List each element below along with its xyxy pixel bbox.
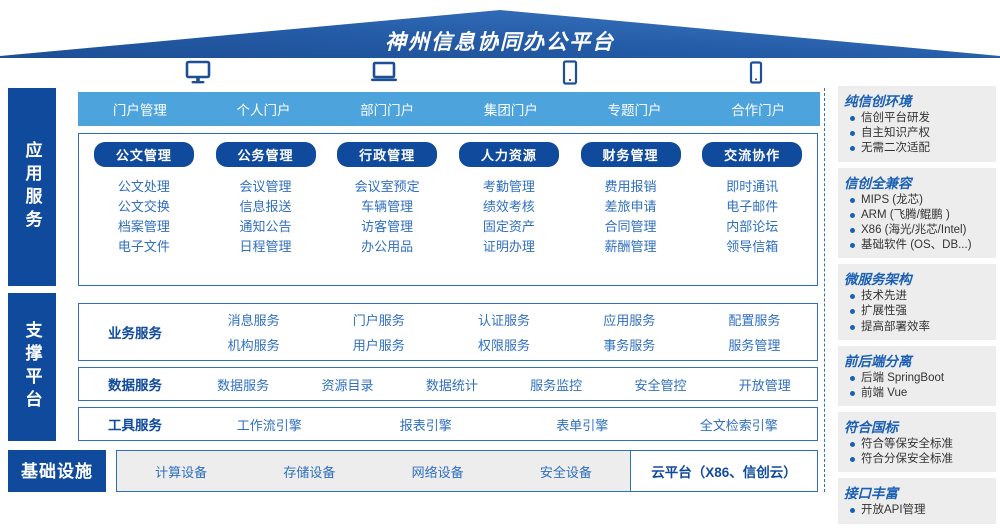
sidebar-item-label: 提高部署效率 — [861, 320, 930, 335]
app-item[interactable]: 会议室预定 — [355, 180, 420, 193]
sidebar-group-title: 纯信创环境 — [844, 90, 990, 110]
support-item[interactable]: 安全管控 — [608, 372, 712, 397]
layer-label-application-text: 应用服务 — [24, 141, 41, 233]
bullet-icon — [850, 309, 855, 314]
sidebar-item-label: 基础软件 (OS、DB...) — [861, 238, 972, 253]
sidebar-item-label: ARM (飞腾/鲲鹏 ) — [861, 208, 950, 223]
sidebar-group-full-compatibility: 信创全兼容 MIPS (龙芯) ARM (飞腾/鲲鹏 ) X86 (海光/兆芯/… — [838, 168, 996, 259]
layer-label-support-text: 支撑平台 — [24, 321, 41, 413]
desktop-monitor-icon — [178, 60, 218, 88]
portal-item[interactable]: 集团门户 — [449, 99, 573, 119]
support-item[interactable]: 消息服务 — [191, 307, 316, 332]
app-item[interactable]: 访客管理 — [361, 220, 413, 233]
sidebar-group-title: 微服务架构 — [844, 268, 990, 288]
support-item[interactable]: 表单引擎 — [504, 412, 661, 437]
sidebar-item-label: X86 (海光/兆芯/Intel) — [861, 223, 966, 238]
layer-label-support: 支撑平台 — [8, 293, 56, 441]
bullet-icon — [850, 294, 855, 299]
support-item[interactable]: 数据服务 — [191, 372, 295, 397]
app-item[interactable]: 证明办理 — [483, 240, 535, 253]
app-item[interactable]: 信息报送 — [240, 200, 292, 213]
sidebar-list-item: 符合等保安全标准 — [844, 437, 990, 452]
app-column: 财务管理 费用报销 差旅申请 合同管理 薪酬管理 — [570, 142, 692, 281]
app-item[interactable]: 考勤管理 — [483, 180, 535, 193]
support-item[interactable]: 权限服务 — [441, 332, 566, 357]
app-item[interactable]: 内部论坛 — [726, 220, 778, 233]
support-item[interactable]: 服务监控 — [504, 372, 608, 397]
vertical-dashed-divider — [824, 88, 825, 492]
support-item[interactable]: 服务管理 — [692, 332, 817, 357]
bullet-icon — [850, 131, 855, 136]
bullet-icon — [850, 442, 855, 447]
support-item[interactable]: 事务服务 — [567, 332, 692, 357]
app-column-title[interactable]: 公文管理 — [94, 142, 194, 167]
app-column: 公文管理 公文处理 公文交换 档案管理 电子文件 — [83, 142, 205, 281]
sidebar-list-item: 扩展性强 — [844, 304, 990, 319]
infrastructure-item[interactable]: 计算设备 — [117, 462, 245, 481]
app-item[interactable]: 日程管理 — [240, 240, 292, 253]
application-services-panel: 公文管理 公文处理 公文交换 档案管理 电子文件 公务管理 会议管理 信息报送 … — [78, 133, 818, 286]
support-section-title: 业务服务 — [79, 322, 191, 342]
portal-bar: 门户管理 个人门户 部门门户 集团门户 专题门户 合作门户 — [78, 92, 820, 126]
app-column: 公务管理 会议管理 信息报送 通知公告 日程管理 — [205, 142, 327, 281]
app-column: 行政管理 会议室预定 车辆管理 访客管理 办公用品 — [326, 142, 448, 281]
support-item[interactable]: 数据统计 — [400, 372, 504, 397]
sidebar-list-item: 提高部署效率 — [844, 320, 990, 335]
sidebar-group-title: 接口丰富 — [844, 482, 990, 502]
app-item[interactable]: 电子邮件 — [726, 200, 778, 213]
smartphone-icon — [736, 60, 776, 88]
sidebar-item-label: 符合分保安全标准 — [861, 452, 953, 467]
bullet-icon — [850, 198, 855, 203]
portal-item[interactable]: 合作门户 — [696, 99, 820, 119]
support-item[interactable]: 工作流引擎 — [191, 412, 348, 437]
support-item[interactable]: 门户服务 — [316, 307, 441, 332]
support-item[interactable]: 资源目录 — [295, 372, 399, 397]
sidebar-item-label: 扩展性强 — [861, 304, 907, 319]
bullet-icon — [850, 146, 855, 151]
app-column: 人力资源 考勤管理 绩效考核 固定资产 证明办理 — [448, 142, 570, 281]
sidebar-item-label: 自主知识产权 — [861, 126, 930, 141]
infrastructure-panel: 计算设备 存储设备 网络设备 安全设备 云平台（X86、信创云） — [116, 450, 818, 492]
sidebar-list-item: 符合分保安全标准 — [844, 452, 990, 467]
app-item[interactable]: 费用报销 — [605, 180, 657, 193]
laptop-icon — [364, 60, 404, 88]
sidebar-list-item: 自主知识产权 — [844, 126, 990, 141]
app-column-title[interactable]: 财务管理 — [581, 142, 681, 167]
app-item[interactable]: 车辆管理 — [361, 200, 413, 213]
portal-item[interactable]: 门户管理 — [78, 99, 202, 119]
support-item[interactable]: 机构服务 — [191, 332, 316, 357]
sidebar-list-item: X86 (海光/兆芯/Intel) — [844, 223, 990, 238]
sidebar-group-national-standard: 符合国标 符合等保安全标准 符合分保安全标准 — [838, 412, 996, 472]
support-business-services: 业务服务 消息服务 门户服务 认证服务 应用服务 配置服务 机构服务 用户服务 … — [78, 303, 818, 361]
infrastructure-item[interactable]: 网络设备 — [374, 462, 502, 481]
app-item[interactable]: 固定资产 — [483, 220, 535, 233]
bullet-icon — [850, 213, 855, 218]
support-item[interactable]: 认证服务 — [441, 307, 566, 332]
support-section-title: 工具服务 — [79, 414, 191, 434]
bullet-icon — [850, 508, 855, 513]
app-item[interactable]: 即时通讯 — [726, 180, 778, 193]
bullet-icon — [850, 116, 855, 121]
app-item[interactable]: 通知公告 — [240, 220, 292, 233]
support-item[interactable]: 应用服务 — [567, 307, 692, 332]
app-column-title[interactable]: 行政管理 — [337, 142, 437, 167]
sidebar-item-label: 技术先进 — [861, 289, 907, 304]
sidebar-group-title: 符合国标 — [844, 416, 990, 436]
sidebar-item-label: 前端 Vue — [861, 386, 907, 401]
sidebar-group-microservice: 微服务架构 技术先进 扩展性强 提高部署效率 — [838, 264, 996, 340]
support-item[interactable]: 开放管理 — [713, 372, 817, 397]
sidebar-group-pure-xinchuang: 纯信创环境 信创平台研发 自主知识产权 无需二次适配 — [838, 86, 996, 162]
app-column-title[interactable]: 人力资源 — [459, 142, 559, 167]
portal-item[interactable]: 专题门户 — [573, 99, 697, 119]
infrastructure-cloud-platform[interactable]: 云平台（X86、信创云） — [630, 451, 817, 491]
support-item[interactable]: 全文检索引擎 — [661, 412, 818, 437]
sidebar-list-item: ARM (飞腾/鲲鹏 ) — [844, 208, 990, 223]
app-item[interactable]: 合同管理 — [605, 220, 657, 233]
sidebar-list-item: 基础软件 (OS、DB...) — [844, 238, 990, 253]
support-item[interactable]: 配置服务 — [692, 307, 817, 332]
app-column-title[interactable]: 交流协作 — [702, 142, 802, 167]
sidebar-list-item: 信创平台研发 — [844, 111, 990, 126]
portal-item[interactable]: 个人门户 — [202, 99, 326, 119]
bullet-icon — [850, 325, 855, 330]
tablet-icon — [550, 60, 590, 88]
bullet-icon — [850, 228, 855, 233]
app-item[interactable]: 薪酬管理 — [605, 240, 657, 253]
sidebar-item-label: 开放API管理 — [861, 503, 926, 518]
sidebar-group-title: 前后端分离 — [844, 350, 990, 370]
app-item[interactable]: 电子文件 — [118, 240, 170, 253]
portal-item[interactable]: 部门门户 — [325, 99, 449, 119]
app-item[interactable]: 公文交换 — [118, 200, 170, 213]
infrastructure-item[interactable]: 存储设备 — [245, 462, 373, 481]
bullet-icon — [850, 376, 855, 381]
support-item[interactable]: 用户服务 — [316, 332, 441, 357]
app-item[interactable]: 会议管理 — [240, 180, 292, 193]
layer-label-application: 应用服务 — [8, 88, 56, 286]
sidebar-group-frontend-backend-split: 前后端分离 后端 SpringBoot 前端 Vue — [838, 346, 996, 406]
app-column-title[interactable]: 公务管理 — [216, 142, 316, 167]
sidebar-list-item: 无需二次适配 — [844, 141, 990, 156]
app-item[interactable]: 绩效考核 — [483, 200, 535, 213]
support-tool-services: 工具服务 工作流引擎 报表引擎 表单引擎 全文检索引擎 — [78, 407, 818, 441]
bullet-icon — [850, 457, 855, 462]
sidebar-list-item: 后端 SpringBoot — [844, 371, 990, 386]
support-data-services: 数据服务 数据服务 资源目录 数据统计 服务监控 安全管控 开放管理 — [78, 367, 818, 401]
sidebar-list-item: 前端 Vue — [844, 386, 990, 401]
app-column: 交流协作 即时通讯 电子邮件 内部论坛 领导信箱 — [691, 142, 813, 281]
infrastructure-item[interactable]: 安全设备 — [502, 462, 630, 481]
app-item[interactable]: 办公用品 — [361, 240, 413, 253]
support-section-title: 数据服务 — [79, 374, 191, 394]
sidebar-item-label: 符合等保安全标准 — [861, 437, 953, 452]
layer-label-infrastructure-text: 基础设施 — [21, 463, 93, 480]
sidebar-list-item: MIPS (龙芯) — [844, 193, 990, 208]
sidebar-item-label: 信创平台研发 — [861, 111, 930, 126]
sidebar-item-label: 无需二次适配 — [861, 141, 930, 156]
layer-label-infrastructure: 基础设施 — [8, 450, 106, 492]
sidebar-list-item: 技术先进 — [844, 289, 990, 304]
app-item[interactable]: 公文处理 — [118, 180, 170, 193]
diagram-root: 神州信息协同办公平台 — [0, 0, 1000, 500]
sidebar-item-label: MIPS (龙芯) — [861, 193, 923, 208]
device-icons-row — [78, 60, 820, 90]
feature-sidebar: 纯信创环境 信创平台研发 自主知识产权 无需二次适配 信创全兼容 MIPS (龙… — [838, 86, 996, 530]
sidebar-list-item: 开放API管理 — [844, 503, 990, 518]
bullet-icon — [850, 243, 855, 248]
sidebar-group-title: 信创全兼容 — [844, 172, 990, 192]
support-item[interactable]: 报表引擎 — [348, 412, 505, 437]
bullet-icon — [850, 391, 855, 396]
page-title: 神州信息协同办公平台 — [0, 26, 1000, 56]
app-item[interactable]: 领导信箱 — [726, 240, 778, 253]
sidebar-group-rich-interfaces: 接口丰富 开放API管理 — [838, 478, 996, 523]
sidebar-item-label: 后端 SpringBoot — [861, 371, 944, 386]
app-item[interactable]: 档案管理 — [118, 220, 170, 233]
app-item[interactable]: 差旅申请 — [605, 200, 657, 213]
